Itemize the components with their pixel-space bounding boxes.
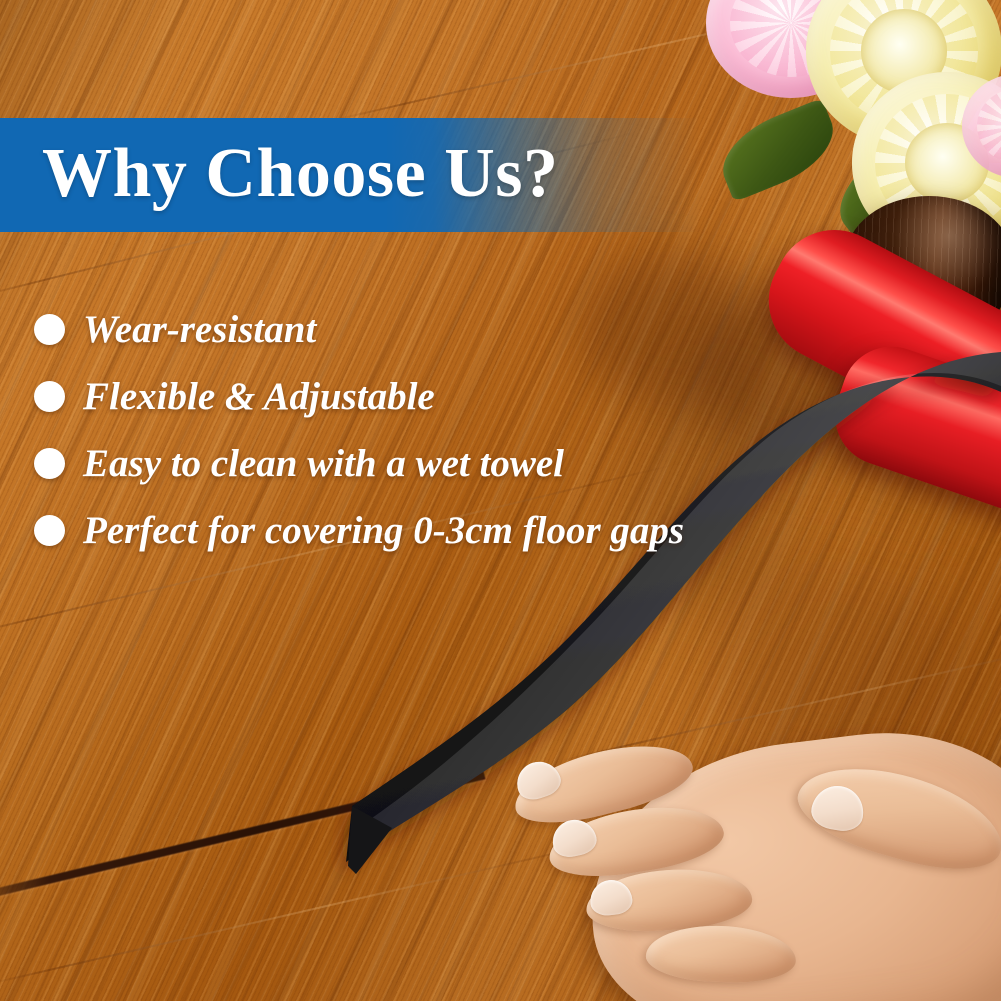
feature-label: Wear-resistant [83,308,316,352]
feature-label: Perfect for covering 0-3cm floor gaps [83,509,684,553]
feature-item: Wear-resistant [34,296,754,363]
feature-item: Perfect for covering 0-3cm floor gaps [34,497,754,564]
feature-item: Easy to clean with a wet towel [34,430,754,497]
bullet-circle-icon [34,314,65,345]
bullet-circle-icon [34,448,65,479]
hand [470,700,1001,1001]
bullet-circle-icon [34,381,65,412]
page-title: Why Choose Us? [42,126,559,222]
feature-item: Flexible & Adjustable [34,363,754,430]
bullet-circle-icon [34,515,65,546]
feature-list: Wear-resistant Flexible & Adjustable Eas… [34,296,754,564]
product-marketing-image: Why Choose Us? Wear-resistant Flexible &… [0,0,1001,1001]
feature-label: Easy to clean with a wet towel [83,442,564,486]
feature-label: Flexible & Adjustable [83,375,435,419]
